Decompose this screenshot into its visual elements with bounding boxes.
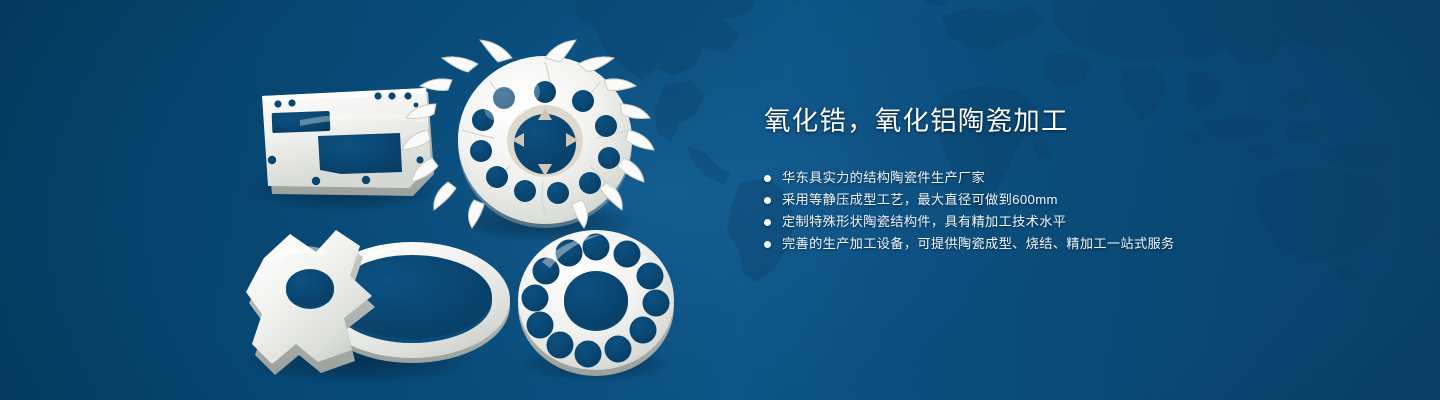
list-item: 华东具实力的结构陶瓷件生产厂家 [764, 167, 1384, 189]
bullet-dot-icon [764, 175, 771, 182]
banner-feature-list: 华东具实力的结构陶瓷件生产厂家 采用等静压成型工艺，最大直径可做到600mm 定… [764, 167, 1384, 255]
list-item: 采用等静压成型工艺，最大直径可做到600mm [764, 189, 1384, 211]
list-item: 完善的生产加工设备，可提供陶瓷成型、烧结、精加工一站式服务 [764, 233, 1384, 255]
bullet-dot-icon [764, 197, 771, 204]
list-item: 定制特殊形状陶瓷结构件，具有精加工技术水平 [764, 211, 1384, 233]
bullet-dot-icon [764, 219, 771, 226]
list-item-label: 华东具实力的结构陶瓷件生产厂家 [782, 167, 985, 189]
banner-headline: 氧化锆，氧化铝陶瓷加工 [764, 104, 1384, 138]
list-item-label: 采用等静压成型工艺，最大直径可做到600mm [782, 189, 1058, 211]
bullet-dot-icon [764, 241, 771, 248]
list-item-label: 定制特殊形状陶瓷结构件，具有精加工技术水平 [782, 211, 1066, 233]
hero-banner: 氧化锆，氧化铝陶瓷加工 华东具实力的结构陶瓷件生产厂家 采用等静压成型工艺，最大… [0, 0, 1440, 400]
banner-copy: 氧化锆，氧化铝陶瓷加工 华东具实力的结构陶瓷件生产厂家 采用等静压成型工艺，最大… [764, 104, 1384, 255]
list-item-label: 完善的生产加工设备，可提供陶瓷成型、烧结、精加工一站式服务 [782, 233, 1175, 255]
